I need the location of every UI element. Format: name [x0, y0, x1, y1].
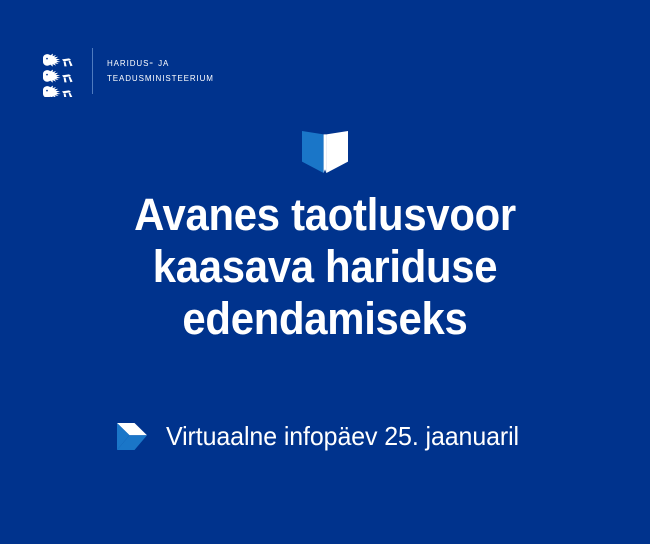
logo-divider: [92, 48, 93, 94]
poster-canvas: Haridus- ja Teadusministeerium Avanes ta…: [0, 0, 650, 544]
ministry-name-line-1: Haridus- ja: [107, 56, 214, 72]
ministry-name-line-2: Teadusministeerium: [107, 71, 214, 87]
headline: Avanes taotlusvoor kaasava hariduse eden…: [23, 189, 628, 345]
subtitle-row: Virtuaalne infopäev 25. jaanuaril: [0, 421, 650, 451]
ministry-logo-lockup[interactable]: Haridus- ja Teadusministeerium: [38, 44, 214, 98]
ministry-name: Haridus- ja Teadusministeerium: [107, 56, 214, 87]
headline-line-1: Avanes taotlusvoor: [60, 189, 590, 241]
arrowhead-right-icon: [117, 423, 147, 450]
estonian-coat-of-arms-icon: [38, 45, 80, 97]
book-icon-container: [0, 131, 650, 173]
headline-line-2: kaasava hariduse: [60, 241, 590, 293]
subtitle-text: Virtuaalne infopäev 25. jaanuaril: [166, 421, 519, 451]
open-book-icon: [302, 131, 348, 173]
headline-line-3: edendamiseks: [60, 293, 590, 345]
